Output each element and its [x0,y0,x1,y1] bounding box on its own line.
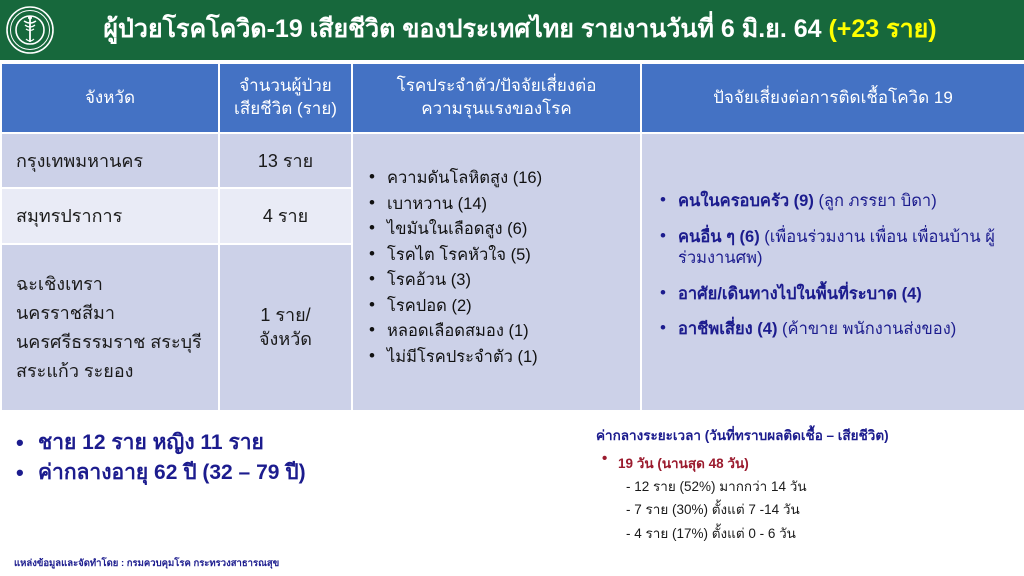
table-row: กรุงเทพมหานคร 13 ราย ความดันโลหิตสูง (16… [1,133,1024,188]
list-item: คนอื่น ๆ (6) (เพื่อนร่วมงาน เพื่อน เพื่อ… [656,227,1012,270]
risk-detail: (ลูก ภรรยา บิดา) [818,192,936,210]
column-header-risk-factor: ปัจจัยเสี่ยงต่อการติดเชื้อโควิด 19 [641,63,1024,133]
source-attribution: แหล่งข้อมูลและจัดทำโดย : กรมควบคุมโรค กร… [14,556,279,571]
province-name-group: ฉะเชิงเทรา นครราชสีมา นครศรีธรรมราช สระบ… [1,244,219,411]
list-item: ชาย 12 ราย หญิง 11 ราย [14,428,474,458]
list-item: โรคอ้วน (3) [367,272,634,289]
moph-caduceus-logo-icon [4,4,56,56]
list-item: เบาหวาน (14) [367,196,634,213]
comorbidity-cell: ความดันโลหิตสูง (16) เบาหวาน (14) ไขมันใ… [352,133,641,411]
list-item: อาศัย/เดินทางไปในพื้นที่ระบาด (4) [656,284,1012,305]
death-count: 1 ราย/ จังหวัด [219,244,352,411]
risk-label: คนในครอบครัว (9) [678,192,818,210]
column-header-comorbidity: โรคประจำตัว/ปัจจัยเสี่ยงต่อ ความรุนแรงขอ… [352,63,641,133]
page-title-main: ผู้ป่วยโรคโควิด-19 เสียชีวิต ของประเทศไท… [103,15,828,43]
demographics-list: ชาย 12 ราย หญิง 11 ราย ค่ากลางอายุ 62 ปี… [14,428,474,488]
risk-label: อาศัย/เดินทางไปในพื้นที่ระบาด (4) [678,285,922,303]
risk-factor-cell: คนในครอบครัว (9) (ลูก ภรรยา บิดา) คนอื่น… [641,133,1024,411]
column-header-province: จังหวัด [1,63,219,133]
page-title: ผู้ป่วยโรคโควิด-19 เสียชีวิต ของประเทศไท… [56,16,1024,44]
list-item: - 12 ราย (52%) มากกว่า 14 วัน [626,480,1016,494]
list-item: ค่ากลางอายุ 62 ปี (32 – 79 ปี) [14,458,474,488]
list-item: อาชีพเสี่ยง (4) (ค้าขาย พนักงานส่งของ) [656,319,1012,340]
risk-detail: (ค้าขาย พนักงานส่งของ) [782,320,956,338]
table-header-row: จังหวัด จำนวนผู้ป่วย เสียชีวิต (ราย) โรค… [1,63,1024,133]
death-count: 13 ราย [219,133,352,188]
header-banner: ผู้ป่วยโรคโควิด-19 เสียชีวิต ของประเทศไท… [0,0,1024,60]
list-item: ไขมันในเลือดสูง (6) [367,221,634,238]
list-item: ไม่มีโรคประจำตัว (1) [367,349,634,366]
page-title-highlight: (+23 ราย) [828,15,936,43]
comorbidity-list: ความดันโลหิตสูง (16) เบาหวาน (14) ไขมันใ… [367,170,634,365]
list-item: โรคไต โรคหัวใจ (5) [367,247,634,264]
list-item: คนในครอบครัว (9) (ลูก ภรรยา บิดา) [656,191,1012,212]
list-item: ความดันโลหิตสูง (16) [367,170,634,187]
list-item: - 4 ราย (17%) ตั้งแต่ 0 - 6 วัน [626,527,1016,541]
demographics-summary: ชาย 12 ราย หญิง 11 ราย ค่ากลางอายุ 62 ปี… [14,428,474,488]
province-name: สมุทรปราการ [1,188,219,243]
interval-heading: ค่ากลางระยะเวลา (วันที่ทราบผลติดเชื้อ – … [596,427,1016,445]
death-count: 4 ราย [219,188,352,243]
interval-summary: ค่ากลางระยะเวลา (วันที่ทราบผลติดเชื้อ – … [596,427,1016,550]
deaths-by-province-table: จังหวัด จำนวนผู้ป่วย เสียชีวิต (ราย) โรค… [0,62,1024,412]
list-item: หลอดเลือดสมอง (1) [367,323,634,340]
province-name: กรุงเทพมหานคร [1,133,219,188]
list-item: โรคปอด (2) [367,298,634,315]
list-item: - 7 ราย (30%) ตั้งแต่ 7 -14 วัน [626,503,1016,517]
column-header-death-count: จำนวนผู้ป่วย เสียชีวิต (ราย) [219,63,352,133]
risk-factor-list: คนในครอบครัว (9) (ลูก ภรรยา บิดา) คนอื่น… [656,191,1012,340]
risk-label: คนอื่น ๆ (6) [678,228,764,246]
interval-median-value: 19 วัน (นานสุด 48 วัน) [596,452,1016,474]
risk-label: อาชีพเสี่ยง (4) [678,320,782,338]
interval-breakdown-list: - 12 ราย (52%) มากกว่า 14 วัน - 7 ราย (3… [596,480,1016,541]
